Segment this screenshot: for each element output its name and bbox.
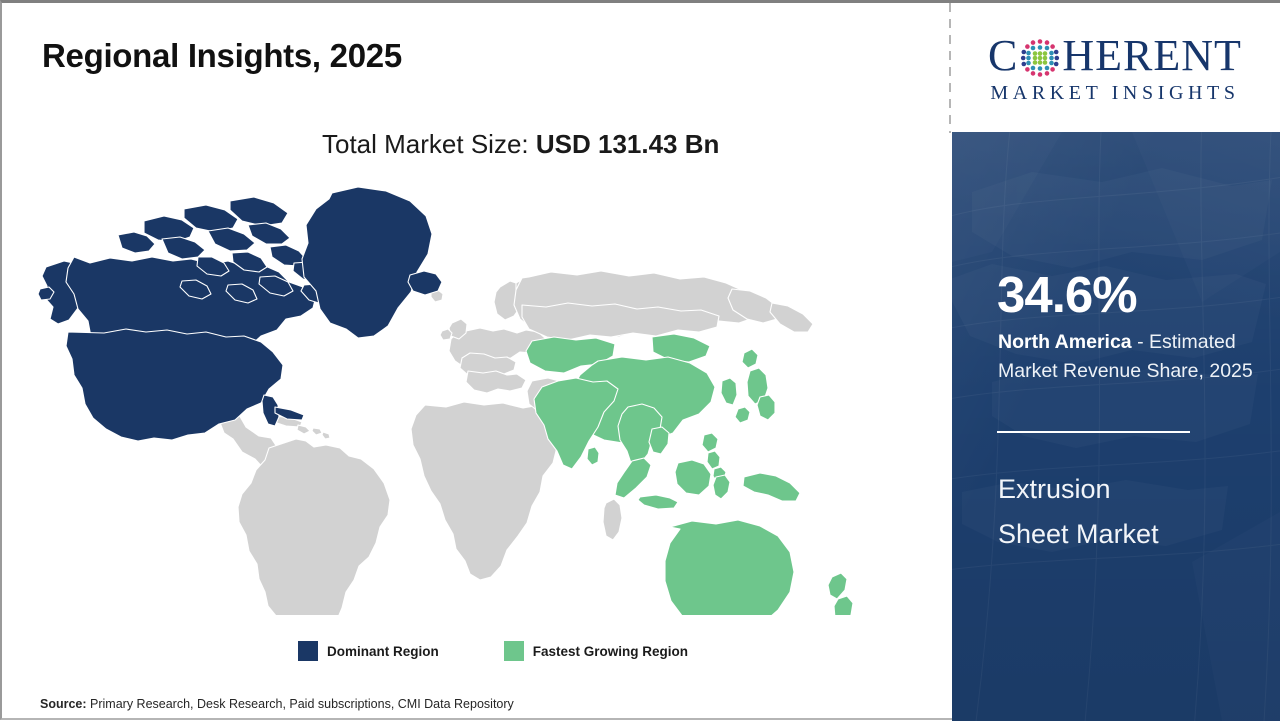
logo-wordmark: C — [988, 34, 1242, 78]
panel-content: 34.6% North America - Estimated Market R… — [952, 132, 1280, 721]
legend-label-dominant: Dominant Region — [327, 644, 439, 659]
legend-label-fastest: Fastest Growing Region — [533, 644, 688, 659]
infographic-root: Regional Insights, 2025 Total Market Siz… — [0, 0, 1280, 720]
legend-item-dominant: Dominant Region — [298, 641, 439, 661]
logo-wordmark-before: C — [988, 34, 1018, 78]
highlight-panel: 34.6% North America - Estimated Market R… — [952, 132, 1280, 721]
market-name-line2: Sheet Market — [998, 512, 1268, 557]
source-label: Source: — [40, 697, 87, 711]
map-legend: Dominant Region Fastest Growing Region — [298, 641, 688, 661]
page-title: Regional Insights, 2025 — [42, 37, 402, 75]
market-share-description: North America - Estimated Market Revenue… — [998, 328, 1266, 386]
panel-divider-rule — [997, 431, 1190, 433]
source-text: Primary Research, Desk Research, Paid su… — [87, 697, 514, 711]
legend-swatch-fastest-icon — [504, 641, 524, 661]
dotted-sphere-icon — [1019, 37, 1061, 79]
market-name-line1: Extrusion — [998, 467, 1268, 512]
total-market-size-label: Total Market Size: — [322, 129, 536, 159]
logo-tagline: MARKET INSIGHTS — [990, 82, 1239, 105]
source-line: Source: Primary Research, Desk Research,… — [40, 697, 514, 711]
vertical-dashed-divider — [949, 3, 951, 133]
map-region-asia-pacific — [526, 334, 853, 615]
world-map — [32, 185, 922, 615]
total-market-size: Total Market Size: USD 131.43 Bn — [322, 129, 719, 160]
market-share-percentage: 34.6% — [997, 269, 1137, 320]
company-logo: C — [952, 9, 1278, 129]
market-share-region: North America — [998, 331, 1132, 353]
map-region-north-america — [38, 187, 442, 441]
total-market-size-value: USD 131.43 Bn — [536, 129, 720, 159]
logo-wordmark-after: HERENT — [1062, 34, 1242, 78]
legend-swatch-dominant-icon — [298, 641, 318, 661]
legend-item-fastest: Fastest Growing Region — [504, 641, 688, 661]
market-name: Extrusion Sheet Market — [998, 467, 1268, 557]
